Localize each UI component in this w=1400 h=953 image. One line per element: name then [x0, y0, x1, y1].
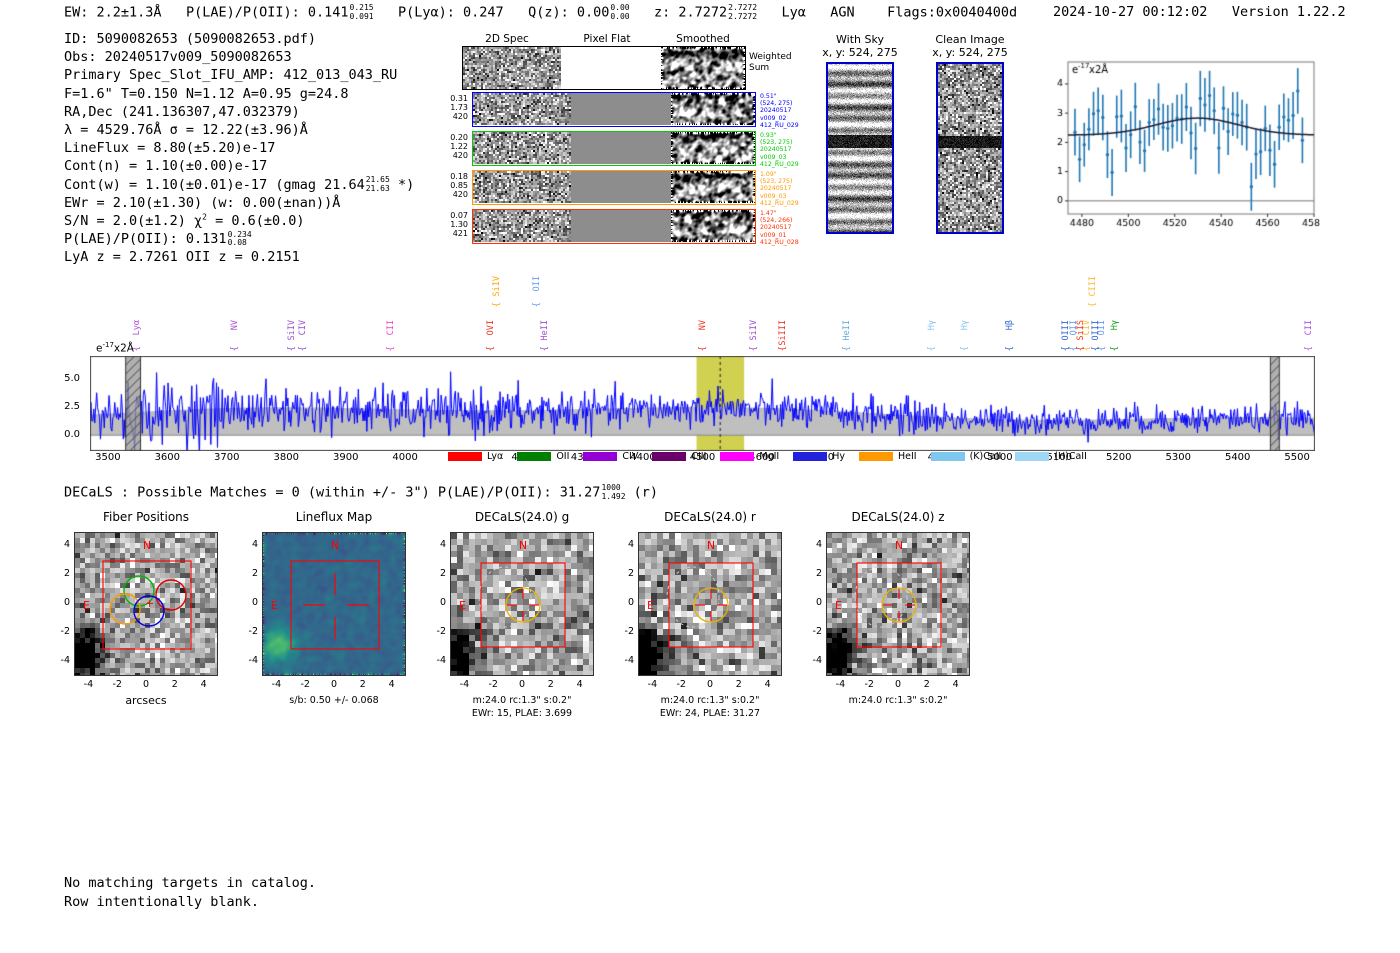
spectrum-line-label: CIII: [1088, 276, 1098, 296]
spectrum-line-brace: {: [492, 302, 502, 307]
spectrum-line-label: OVI: [486, 320, 496, 335]
fiber-right-label: 0.93": [760, 132, 799, 139]
fiber-pixelflat: [571, 210, 671, 242]
info-seeing: F=1.6" T=0.150 N=1.12 A=0.95 g=24.8: [64, 85, 414, 103]
emission-line-fit-canvas: [1036, 52, 1320, 238]
cutout-clean-canvas: [938, 64, 1002, 232]
spectrum-line-brace: {: [1091, 346, 1101, 351]
legend-label: HeII: [898, 451, 917, 462]
spectrum-line-brace: {: [960, 346, 970, 351]
full-spectrum-plot: [90, 356, 1315, 451]
spectrum-xtick: 5500: [1284, 452, 1309, 463]
imaging-panel-title: Fiber Positions: [74, 510, 218, 524]
imaging-panel: Fiber PositionsNE+420-2-4-4-2024arcsecs: [74, 510, 218, 524]
imaging-xtick: 0: [707, 679, 713, 690]
info-cont-wide-a: Cont(w) = 1.10(±0.01)e-17 (gmag 21.64: [64, 177, 365, 193]
fiber-right-label: 412_RU_029: [760, 161, 799, 168]
info-wavelength: λ = 4529.76Å σ = 12.22(±3.96)Å: [64, 121, 414, 139]
spec2d-weighted-sum-strip: [462, 46, 746, 90]
spectrum-line-brace: {: [1304, 346, 1314, 351]
imaging-ytick: 4: [252, 539, 258, 550]
fiber-left-value: 0.20: [446, 133, 468, 142]
imaging-xtick: 2: [172, 679, 178, 690]
imaging-xtick: -2: [300, 679, 309, 690]
imaging-xticks: -4-2024: [262, 679, 406, 693]
imaging-xtick: 4: [201, 679, 207, 690]
imaging-panel-image: NE: [450, 532, 594, 676]
spectrum-line-label: CIV: [298, 320, 308, 335]
spectrum-ytick: 2.5: [64, 401, 80, 412]
header-flags: Flags:0x0040400d: [887, 5, 1017, 21]
imaging-panel: DECaLS(24.0) rNE420-2-4-4-2024m:24.0 rc:…: [638, 510, 782, 524]
imaging-panel-canvas: [75, 533, 217, 675]
legend-label: (H)CaII: [1054, 451, 1087, 462]
fiber-smoothed: [671, 171, 755, 203]
spec2d-weighted-smoothed: [661, 47, 745, 89]
imaging-ytick: -4: [437, 655, 446, 666]
header-classification: Lyα: [781, 5, 805, 21]
spec2d-fiber-strip: [472, 131, 756, 166]
spectrum-unit-post: x2Å: [114, 343, 134, 355]
info-primary-spec: Primary Spec_Slot_IFU_AMP: 412_013_043_R…: [64, 66, 414, 84]
spectrum-line-brace: {: [532, 302, 542, 307]
header-plae-lo: 0.091: [350, 13, 374, 22]
imaging-xtick: -2: [864, 679, 873, 690]
imaging-xtick: 4: [577, 679, 583, 690]
legend-swatch: [720, 452, 754, 461]
info-ewr: EWr = 2.10(±1.30) (w: 0.00(±nan))Å: [64, 194, 414, 212]
fiber-2dspec: [473, 93, 571, 125]
header-ew: EW: 2.2±1.3Å: [64, 5, 162, 21]
imaging-xtick: -4: [460, 679, 469, 690]
fiber-right-label: (523, 275): [760, 139, 799, 146]
imaging-xtick: 0: [519, 679, 525, 690]
spectrum-line-brace: {: [287, 346, 297, 351]
spectrum-line-brace: {: [749, 346, 759, 351]
cutout-withsky-canvas: [828, 64, 892, 232]
spectrum-yticks: 0.02.55.0: [40, 356, 86, 451]
fiber-right-label: (523, 275): [760, 178, 799, 185]
info-plae-label: P(LAE)/P(OII): 0.131: [64, 231, 227, 247]
imaging-ytick: -4: [61, 655, 70, 666]
imaging-ytick: 2: [64, 568, 70, 579]
decals-summary-text: DECaLS : Possible Matches = 0 (within +/…: [64, 485, 600, 501]
spectrum-legend: LyαOIICIVCIIIMgIIHyHeII(K)CaII(H)CaII: [448, 446, 1101, 465]
fiber-left-value: 420: [446, 190, 468, 199]
legend-swatch: [583, 452, 617, 461]
spectrum-line-brace: {: [1076, 346, 1086, 351]
cutout-title-withsky: With Sky x, y: 524, 275: [805, 33, 915, 59]
imaging-xtick: -4: [648, 679, 657, 690]
imaging-xtick: 2: [736, 679, 742, 690]
spec2d-weighted-pixelflat: [561, 47, 661, 89]
cutout-withsky-coords: x, y: 524, 275: [805, 46, 915, 59]
spectrum-line-label: Hγ: [1110, 320, 1120, 330]
fiber-left-value: 0.07: [446, 211, 468, 220]
spectrum-xtick: 4000: [392, 452, 417, 463]
fiber-right-labels: 0.93"(523, 275)20240517v009_03412_RU_029: [760, 132, 799, 168]
header-z-label: z: 2.7272: [654, 5, 727, 21]
fiber-right-label: 412_RU_028: [760, 239, 799, 246]
spectrum-line-label: HeII: [540, 320, 550, 340]
imaging-xtick: 0: [331, 679, 337, 690]
full-spectrum-canvas: [90, 356, 1315, 451]
spectrum-line-label: Hγ: [927, 320, 937, 330]
header-timestamp-version: 2024-10-27 00:12:02 Version 1.22.2: [1053, 4, 1346, 20]
imaging-panel-row: Fiber PositionsNE+420-2-4-4-2024arcsecsL…: [40, 510, 1040, 730]
info-redshifts: LyA z = 2.7261 OII z = 0.2151: [64, 248, 414, 266]
legend-swatch: [652, 452, 686, 461]
decals-summary-lo: 1.492: [601, 493, 625, 502]
spectrum-line-label: CII: [386, 320, 396, 335]
legend-swatch: [793, 452, 827, 461]
spectrum-xtick: 5300: [1165, 452, 1190, 463]
decals-summary: DECaLS : Possible Matches = 0 (within +/…: [64, 484, 658, 501]
spec2d-fiber-strip: [472, 170, 756, 205]
imaging-ytick: -2: [61, 626, 70, 637]
spectrum-line-label: Hγ: [960, 320, 970, 330]
spec2d-fiber-strip: [472, 92, 756, 127]
imaging-xlabel: arcsecs: [74, 695, 218, 707]
cutout-withsky-title: With Sky: [805, 33, 915, 46]
imaging-panel: DECaLS(24.0) gNE420-2-4-4-2024m:24.0 rc:…: [450, 510, 594, 524]
fiber-left-value: 1.30: [446, 220, 468, 229]
fiber-smoothed: [671, 93, 755, 125]
spectrum-line-brace: {: [386, 346, 396, 351]
spectrum-line-brace: {: [1005, 346, 1015, 351]
spectrum-xtick: 3600: [155, 452, 180, 463]
header-z-lo: 2.7272: [728, 13, 757, 22]
imaging-ytick: 2: [252, 568, 258, 579]
spec2d-weighted-sum-label: Weighted Sum: [749, 52, 792, 74]
info-cont-narrow: Cont(n) = 1.10(±0.00)e-17: [64, 157, 414, 175]
imaging-xtick: 2: [548, 679, 554, 690]
spec2d-title-smoothed: Smoothed: [658, 33, 748, 45]
imaging-panel: Lineflux MapNE420-2-4-4-2024s/b: 0.50 +/…: [262, 510, 406, 524]
imaging-ytick: -2: [249, 626, 258, 637]
spectrum-xtick: 3700: [214, 452, 239, 463]
imaging-xticks: -4-2024: [450, 679, 594, 693]
imaging-panel-title: Lineflux Map: [262, 510, 406, 524]
cutout-clean-title: Clean Image: [915, 33, 1025, 46]
fiber-right-label: 1.09": [760, 171, 799, 178]
footer-note: No matching targets in catalog. Row inte…: [64, 874, 316, 911]
spectrum-line-brace: {: [298, 346, 308, 351]
spectrum-line-label: CII: [1304, 320, 1314, 335]
imaging-panel-image: NE: [262, 532, 406, 676]
imaging-ytick: -2: [437, 626, 446, 637]
imaging-xtick: -2: [112, 679, 121, 690]
spectrum-line-label: Lyα: [132, 320, 142, 335]
legend-label: CIV: [622, 451, 638, 462]
imaging-xtick: -4: [84, 679, 93, 690]
imaging-caption: m:24.0 rc:1.3" s:0.2": [810, 695, 986, 707]
spectrum-line-label: SiIII: [778, 320, 788, 346]
imaging-xtick: -2: [676, 679, 685, 690]
spectrum-line-brace: {: [698, 346, 708, 351]
imaging-ytick: -4: [249, 655, 258, 666]
imaging-panel-canvas: [451, 533, 593, 675]
fiber-right-labels: 1.47"(524, 266)20240517v009_01412_RU_028: [760, 210, 799, 246]
spectrum-xtick: 3800: [274, 452, 299, 463]
legend-label: CIII: [691, 451, 706, 462]
spec2d-title-2dspec: 2D Spec: [462, 33, 552, 45]
footer-line2: Row intentionally blank.: [64, 893, 316, 912]
fiber-left-values: 0.180.85420: [446, 172, 468, 200]
source-info-block: ID: 5090082653 (5090082653.pdf) Obs: 202…: [64, 30, 414, 267]
spectrum-line-brace: {: [1061, 346, 1071, 351]
fiber-2dspec: [473, 210, 571, 242]
fiber-left-value: 1.22: [446, 142, 468, 151]
imaging-panel-image: NE: [826, 532, 970, 676]
cutout-image-withsky: [826, 62, 894, 234]
imaging-ytick: 0: [440, 597, 446, 608]
footer-line1: No matching targets in catalog.: [64, 874, 316, 893]
info-cont-wide-b: *): [398, 177, 414, 193]
imaging-xtick: 4: [953, 679, 959, 690]
imaging-caption-2: EWr: 15, PLAE: 3.699: [434, 708, 610, 720]
fiber-right-label: v009_01: [760, 232, 799, 239]
legend-swatch: [931, 452, 965, 461]
imaging-panel-image: NE: [638, 532, 782, 676]
header-timestamp: 2024-10-27 00:12:02: [1053, 4, 1207, 20]
imaging-xtick: 4: [765, 679, 771, 690]
fiber-left-value: 420: [446, 151, 468, 160]
spectrum-line-brace: {: [230, 346, 240, 351]
fiber-left-values: 0.311.73420: [446, 94, 468, 122]
imaging-ytick: 0: [628, 597, 634, 608]
spectrum-line-brace: {: [842, 346, 852, 351]
info-plae: P(LAE)/P(OII): 0.1310.2340.08: [64, 230, 414, 248]
spectrum-xtick: 5200: [1106, 452, 1131, 463]
spectrum-line-label: NV: [230, 320, 240, 330]
spectrum-line-brace: {: [486, 346, 496, 351]
fiber-2dspec: [473, 171, 571, 203]
header-version: Version 1.22.2: [1232, 4, 1346, 20]
imaging-yticks: 420-2-4: [238, 532, 260, 676]
fiber-smoothed: [671, 210, 755, 242]
spectrum-line-label: OIII: [1091, 320, 1101, 340]
imaging-ytick: -2: [625, 626, 634, 637]
fiber-right-label: 0.51": [760, 93, 799, 100]
fiber-right-label: 20240517: [760, 185, 799, 192]
spectrum-line-label: SiIV: [492, 276, 502, 296]
spectrum-line-brace: {: [1110, 346, 1120, 351]
info-snr-b: = 0.6(±0.0): [207, 213, 305, 229]
fiber-left-value: 421: [446, 229, 468, 238]
imaging-ytick: 2: [628, 568, 634, 579]
spec2d-title-pixelflat: Pixel Flat: [562, 33, 652, 45]
imaging-panel-title: DECaLS(24.0) g: [450, 510, 594, 524]
fiber-right-label: 1.47": [760, 210, 799, 217]
imaging-yticks: 420-2-4: [50, 532, 72, 676]
fiber-right-labels: 1.09"(523, 275)20240517v009_03412_RU_029: [760, 171, 799, 207]
fiber-smoothed: [671, 132, 755, 164]
imaging-caption: s/b: 0.50 +/- 0.068: [246, 695, 422, 707]
spectrum-line-label: SiIV: [749, 320, 759, 340]
fiber-2dspec: [473, 132, 571, 164]
fiber-right-label: 412_RU_029: [760, 122, 799, 129]
fiber-right-label: 20240517: [760, 224, 799, 231]
header-plae-value: 0.141: [308, 5, 349, 21]
imaging-caption: m:24.0 rc:1.3" s:0.2": [622, 695, 798, 707]
imaging-yticks: 420-2-4: [614, 532, 636, 676]
info-id: ID: 5090082653 (5090082653.pdf): [64, 30, 414, 48]
spectrum-unit-label: e-17x2Å: [96, 341, 134, 355]
fiber-left-value: 1.73: [446, 103, 468, 112]
spec2d-fiber-strip: [472, 209, 756, 244]
spectrum-unit-exp: -17: [102, 341, 113, 349]
spectrum-ytick: 5.0: [64, 373, 80, 384]
fiber-pixelflat: [571, 171, 671, 203]
header-qz-lo: 0.00: [610, 13, 629, 22]
imaging-ytick: 2: [440, 568, 446, 579]
info-plae-lo: 0.08: [228, 239, 252, 248]
spectrum-line-label: SiIS: [1076, 320, 1086, 340]
fiber-left-value: 0.31: [446, 94, 468, 103]
imaging-panel-title: DECaLS(24.0) z: [826, 510, 970, 524]
fiber-right-label: (524, 275): [760, 100, 799, 107]
spectrum-line-brace: {: [540, 346, 550, 351]
imaging-xtick: -4: [836, 679, 845, 690]
imaging-panel-title: DECaLS(24.0) r: [638, 510, 782, 524]
imaging-ytick: -4: [625, 655, 634, 666]
fiber-right-labels: 0.51"(524, 275)20240517v009_02412_RU_029: [760, 93, 799, 129]
imaging-xtick: -2: [488, 679, 497, 690]
legend-label: OII: [556, 451, 569, 462]
fiber-pixelflat: [571, 132, 671, 164]
legend-label: Lyα: [487, 451, 503, 462]
spectrum-line-label: HeII: [842, 320, 852, 340]
imaging-caption-2: EWr: 24, PLAE: 31.27: [622, 708, 798, 720]
spectrum-line-label: NV: [698, 320, 708, 330]
imaging-ytick: 0: [252, 597, 258, 608]
imaging-ytick: 4: [64, 539, 70, 550]
imaging-xticks: -4-2024: [826, 679, 970, 693]
imaging-xtick: 0: [895, 679, 901, 690]
spectrum-line-brace: {: [778, 346, 788, 351]
header-plae-label: P(LAE)/P(OII):: [186, 5, 300, 21]
spectrum-xtick: 3900: [333, 452, 358, 463]
info-obs: Obs: 20240517v009_5090082653: [64, 48, 414, 66]
cutout-clean-coords: x, y: 524, 275: [915, 46, 1025, 59]
info-gmag-lo: 21.63: [366, 185, 390, 194]
imaging-panel-canvas: [263, 533, 405, 675]
weighted-sum-line2: Sum: [749, 63, 792, 74]
spectrum-ytick: 0.0: [64, 429, 80, 440]
spectrum-xtick: 5400: [1225, 452, 1250, 463]
imaging-panel-canvas: [827, 533, 969, 675]
fiber-right-label: v009_03: [760, 154, 799, 161]
spectrum-line-label: OIII: [1061, 320, 1071, 340]
fiber-right-label: (524, 266): [760, 217, 799, 224]
legend-label: MgII: [759, 451, 779, 462]
fiber-left-values: 0.071.30421: [446, 211, 468, 239]
legend-swatch: [448, 452, 482, 461]
imaging-ytick: 0: [64, 597, 70, 608]
imaging-xtick: 0: [143, 679, 149, 690]
info-cont-wide: Cont(w) = 1.10(±0.01)e-17 (gmag 21.6421.…: [64, 176, 414, 194]
fiber-left-value: 0.18: [446, 172, 468, 181]
fiber-right-label: 20240517: [760, 146, 799, 153]
imaging-xtick: 2: [360, 679, 366, 690]
imaging-xtick: 2: [924, 679, 930, 690]
fiber-right-label: v009_03: [760, 193, 799, 200]
weighted-sum-line1: Weighted: [749, 52, 792, 63]
imaging-caption: m:24.0 rc:1.3" s:0.2": [434, 695, 610, 707]
emission-line-fit-plot: [1036, 52, 1320, 238]
imaging-xtick: 4: [389, 679, 395, 690]
spectrum-line-label: OII: [532, 276, 542, 291]
imaging-panel-image: NE+: [74, 532, 218, 676]
legend-swatch: [517, 452, 551, 461]
header-agn-flag: AGN: [830, 5, 854, 21]
spectrum-line-brace: {: [1088, 302, 1098, 307]
fiber-right-label: v009_02: [760, 115, 799, 122]
imaging-xticks: -4-2024: [638, 679, 782, 693]
imaging-yticks: 420-2-4: [802, 532, 824, 676]
imaging-panel-canvas: [639, 533, 781, 675]
imaging-ytick: -4: [813, 655, 822, 666]
info-radec: RA,Dec (241.136307,47.032379): [64, 103, 414, 121]
spec2d-weighted-2dspec: [463, 47, 561, 89]
cutout-title-clean: Clean Image x, y: 524, 275: [915, 33, 1025, 59]
fiber-right-label: 20240517: [760, 107, 799, 114]
spectrum-xtick: 3500: [95, 452, 120, 463]
spectrum-line-label: SiIV: [287, 320, 297, 340]
imaging-ytick: 0: [816, 597, 822, 608]
cutout-image-clean: [936, 62, 1004, 234]
imaging-ytick: -2: [813, 626, 822, 637]
fiber-right-label: 412_RU_029: [760, 200, 799, 207]
fiber-left-values: 0.201.22420: [446, 133, 468, 161]
legend-swatch: [859, 452, 893, 461]
info-snr-a: S/N = 2.0(±1.2) χ: [64, 213, 202, 229]
imaging-panel: DECaLS(24.0) zNE420-2-4-4-2024m:24.0 rc:…: [826, 510, 970, 524]
info-lineflux: LineFlux = 8.80(±5.20)e-17: [64, 139, 414, 157]
legend-label: (K)CaII: [970, 451, 1002, 462]
header-qz-label: Q(z): 0.00: [528, 5, 609, 21]
decals-summary-tail: (r): [634, 485, 658, 501]
header-summary-line: EW: 2.2±1.3Å P(LAE)/P(OII): 0.1410.2150.…: [64, 4, 1017, 21]
fiber-left-value: 0.85: [446, 181, 468, 190]
imaging-xtick: -4: [272, 679, 281, 690]
imaging-ytick: 4: [816, 539, 822, 550]
imaging-ytick: 4: [628, 539, 634, 550]
header-plya: P(Lyα): 0.247: [398, 5, 504, 21]
imaging-ytick: 4: [440, 539, 446, 550]
fiber-left-value: 420: [446, 112, 468, 121]
imaging-yticks: 420-2-4: [426, 532, 448, 676]
legend-label: Hy: [832, 451, 845, 462]
spectrum-line-brace: {: [927, 346, 937, 351]
imaging-xticks: -4-2024: [74, 679, 218, 693]
legend-swatch: [1015, 452, 1049, 461]
info-snr: S/N = 2.0(±1.2) χ2 = 0.6(±0.0): [64, 212, 414, 230]
imaging-ytick: 2: [816, 568, 822, 579]
spectrum-line-label: Hβ: [1005, 320, 1015, 330]
fiber-pixelflat: [571, 93, 671, 125]
